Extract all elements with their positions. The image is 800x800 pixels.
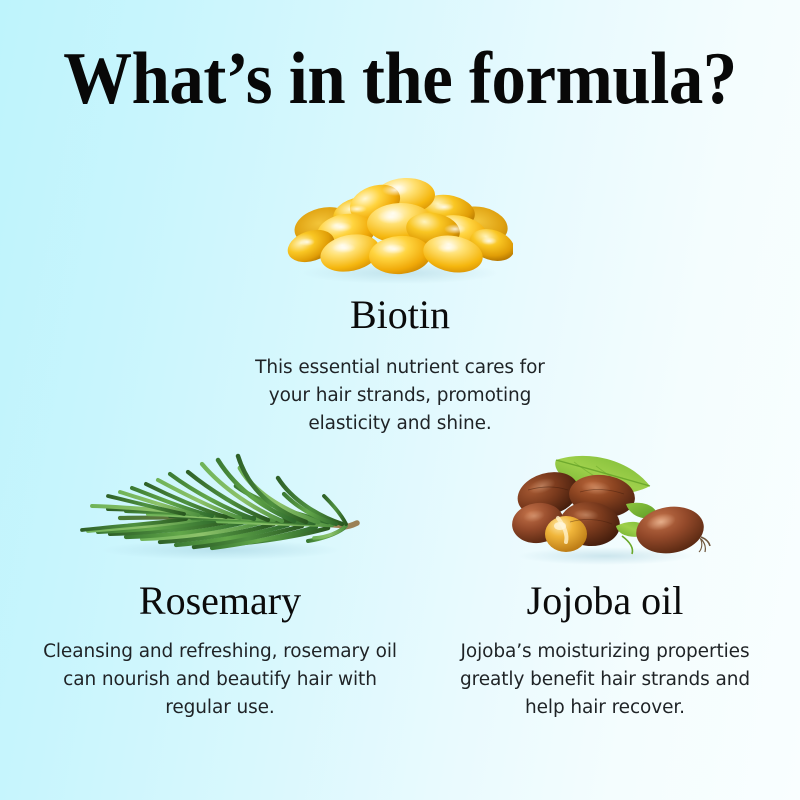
- jojoba-oil-drop: [545, 516, 587, 552]
- biotin-capsules-art: [240, 170, 560, 288]
- jojoba-seeds-art: [440, 438, 770, 568]
- ingredient-name-biotin: Biotin: [240, 294, 560, 336]
- ingredient-card-rosemary: Rosemary Cleansing and refreshing, rosem…: [35, 438, 405, 721]
- page-title: What’s in the formula?: [28, 42, 772, 116]
- ingredient-description-biotin: This essential nutrient cares for your h…: [240, 354, 560, 437]
- ingredient-description-jojoba: Jojoba’s moisturizing properties greatly…: [440, 638, 770, 721]
- ingredient-name-rosemary: Rosemary: [35, 580, 405, 622]
- rosemary-sprig-art: [35, 438, 405, 568]
- ingredient-card-biotin: Biotin This essential nutrient cares for…: [240, 170, 560, 437]
- jojoba-seeds-and-leaves-icon: [498, 438, 713, 566]
- formula-poster: What’s in the formula?: [0, 0, 800, 800]
- ingredient-card-jojoba: Jojoba oil Jojoba’s moisturizing propert…: [440, 438, 770, 721]
- ingredient-name-jojoba: Jojoba oil: [440, 580, 770, 622]
- rosemary-sprig-icon: [70, 438, 370, 566]
- biotin-softgel-capsules-icon: [287, 170, 513, 284]
- ingredient-description-rosemary: Cleansing and refreshing, rosemary oil c…: [35, 638, 405, 721]
